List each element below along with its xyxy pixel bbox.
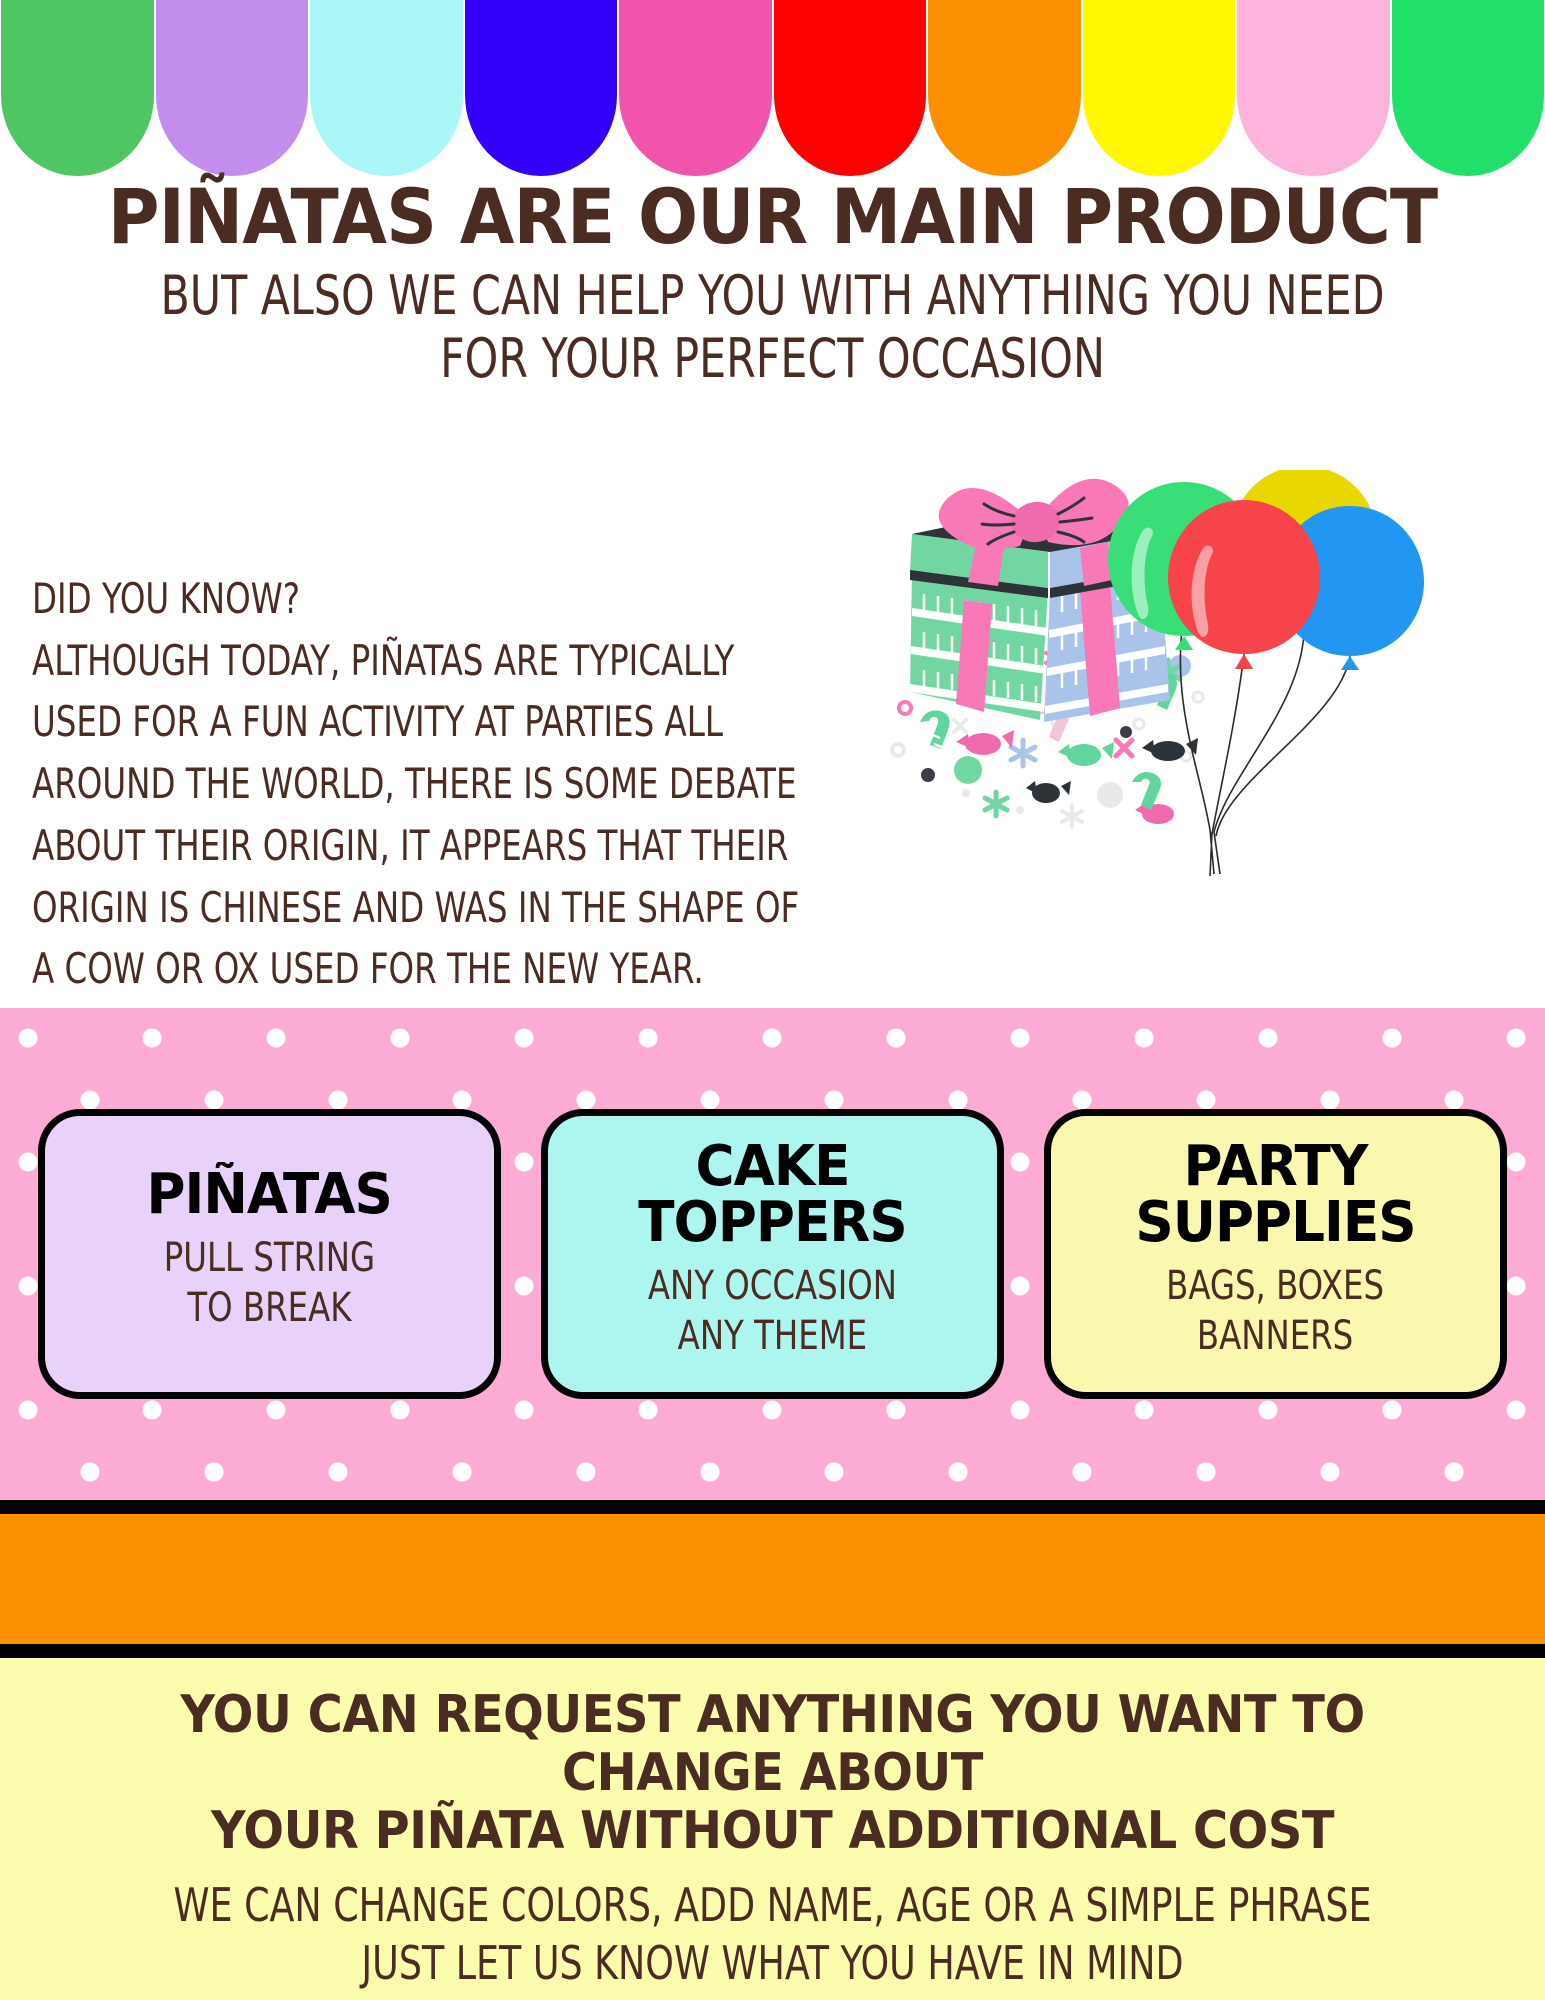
scallop-blue	[465, 0, 618, 176]
orange-divider	[0, 1514, 1545, 1644]
footer-subtext: WE CAN CHANGE COLORS, ADD NAME, AGE OR A…	[93, 1877, 1453, 1993]
page-subtitle: BUT ALSO WE CAN HELP YOU WITH ANYTHING Y…	[93, 264, 1453, 390]
card-party-supplies[interactable]: PARTY SUPPLIESBAGS, BOXES BANNERS	[1044, 1109, 1507, 1399]
scallop-green	[1, 0, 154, 176]
candy-green	[1058, 742, 1114, 766]
card-cake-toppers[interactable]: CAKE TOPPERSANY OCCASION ANY THEME	[541, 1109, 1004, 1399]
scalloped-banner	[0, 0, 1545, 176]
gift-box	[910, 479, 1170, 722]
candy-cane-1	[920, 710, 950, 749]
candy-dark	[1142, 738, 1198, 761]
scallop-red	[774, 0, 927, 176]
candy-cane-2	[1148, 672, 1177, 710]
scallop-yellow	[1083, 0, 1236, 176]
category-card-list: PIÑATASPULL STRING TO BREAKCAKE TOPPERSA…	[0, 1008, 1545, 1500]
scallop-purple	[156, 0, 309, 176]
card-pinatas[interactable]: PIÑATASPULL STRING TO BREAK	[38, 1109, 501, 1399]
confetti-scatter	[892, 648, 1203, 970]
balloon-bunch	[1108, 470, 1424, 876]
candy-cane-4	[1040, 704, 1069, 742]
footer-headline: YOU CAN REQUEST ANYTHING YOU WANT TO CHA…	[62, 1686, 1483, 1861]
party-illustration	[880, 470, 1520, 970]
did-you-know-text: DID YOU KNOW? ALTHOUGH TODAY, PIÑATAS AR…	[32, 568, 832, 1000]
footer-block: YOU CAN REQUEST ANYTHING YOU WANT TO CHA…	[0, 1658, 1545, 2000]
divider-rule-top	[0, 1500, 1545, 1514]
category-card-title: PARTY SUPPLIES	[1072, 1139, 1480, 1251]
category-card-title: PIÑATAS	[147, 1167, 392, 1223]
scallop-pink	[619, 0, 772, 176]
page-title: PIÑATAS ARE OUR MAIN PRODUCT	[54, 178, 1491, 256]
candy-cane-3	[1132, 772, 1161, 810]
category-card-title: CAKE TOPPERS	[569, 1139, 977, 1251]
category-card-subtitle: ANY OCCASION ANY THEME	[648, 1261, 897, 1362]
divider-rule-bottom	[0, 1644, 1545, 1658]
header-block: PIÑATAS ARE OUR MAIN PRODUCT BUT ALSO WE…	[0, 178, 1545, 390]
candy-pink	[956, 730, 1014, 755]
scallop-bright-green	[1392, 0, 1545, 176]
candy-dark-2	[1026, 781, 1071, 803]
candy-pink-2	[1135, 803, 1174, 824]
scallop-cyan	[310, 0, 463, 176]
scallop-orange	[928, 0, 1081, 176]
scallop-light-pink	[1237, 0, 1390, 176]
categories-band: PIÑATASPULL STRING TO BREAKCAKE TOPPERSA…	[0, 1008, 1545, 1500]
category-card-subtitle: BAGS, BOXES BANNERS	[1167, 1261, 1385, 1362]
category-card-subtitle: PULL STRING TO BREAK	[164, 1233, 375, 1334]
